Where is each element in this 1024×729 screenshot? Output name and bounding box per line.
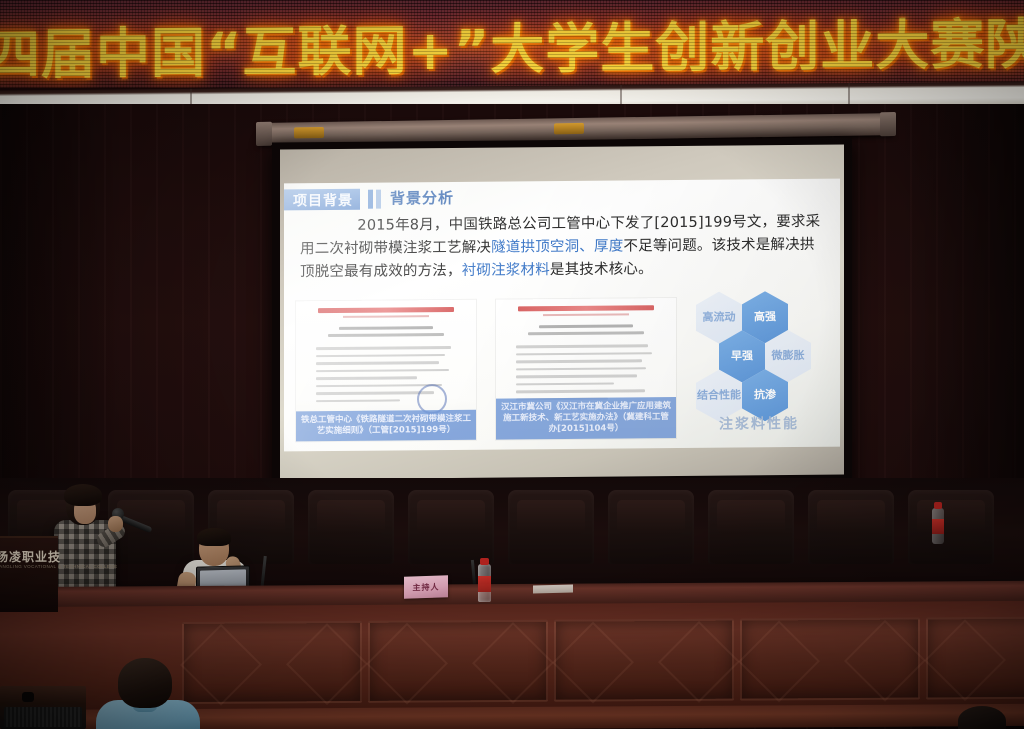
slide-highlight-2: 衬砌注浆材料 xyxy=(462,262,550,279)
chair xyxy=(908,490,994,564)
chair xyxy=(708,490,794,564)
desk-panel xyxy=(182,621,362,704)
water-bottle xyxy=(932,508,944,544)
papers-on-desk xyxy=(533,584,573,593)
desk-panel xyxy=(926,616,1024,699)
bottle-cap xyxy=(480,558,489,565)
document-red-subline xyxy=(543,313,629,316)
hexagon-diagram: 高流动 高强 早强 微膨胀 结合性能 抗渗 注浆料性能 xyxy=(684,287,834,438)
slide-subtitle: 背景分析 xyxy=(390,188,454,210)
slide-section-tag: 项目背景 xyxy=(284,189,360,211)
podium: 杨凌职业技 YANGLING VOCATIONAL & TECHNICAL CO… xyxy=(0,536,58,612)
document-red-subline xyxy=(343,315,429,318)
slide-paragraph-end: 是其技术核心。 xyxy=(550,261,653,278)
bottle-label xyxy=(478,576,491,592)
presentation-slide: 项目背景 背景分析 2015年8月，中国铁路总公司工管中心下发了[2015]19… xyxy=(284,179,840,452)
presenter-hair xyxy=(64,484,102,506)
led-banner: 四届中国“互联网+”大学生创新创业大赛陕西赛区 xyxy=(0,0,1024,88)
conference-hall-photo: 四届中国“互联网+”大学生创新创业大赛陕西赛区 项目背景 背景分析 2015年 xyxy=(0,0,1024,729)
projection-screen-surface: 项目背景 背景分析 2015年8月，中国铁路总公司工管中心下发了[2015]19… xyxy=(280,145,844,480)
projection-screen: 项目背景 背景分析 2015年8月，中国铁路总公司工管中心下发了[2015]19… xyxy=(272,137,852,494)
document-thumbnail-right: 汉江市冀公司《汉江市在冀企业推广应用建筑施工新技术、新工艺实施办法》（冀建科工管… xyxy=(496,298,676,440)
hexagon-diagram-caption: 注浆料性能 xyxy=(684,413,834,434)
chair xyxy=(508,490,594,564)
institution-sign: 杨凌职业技 xyxy=(0,548,54,565)
document-right-caption: 汉江市冀公司《汉江市在冀企业推广应用建筑施工新技术、新工艺实施办法》（冀建科工管… xyxy=(496,397,676,440)
audience-member-head xyxy=(118,658,172,708)
presenter-hand xyxy=(108,516,123,532)
water-bottle xyxy=(478,564,491,602)
bottle-label xyxy=(932,519,944,534)
document-title-line-2 xyxy=(528,331,643,335)
document-title-line xyxy=(539,324,633,328)
slide-document-thumbnails: 铁总工管中心《铁路隧道二次衬砌带模注浆工艺实施细则》（工管[2015]199号）… xyxy=(296,298,692,441)
speaker-port xyxy=(22,692,34,702)
document-title-line xyxy=(339,326,433,330)
institution-sign-subtitle: YANGLING VOCATIONAL & TECHNICAL COLLEGE xyxy=(0,564,58,569)
document-body-lines xyxy=(516,344,656,405)
chair xyxy=(408,490,494,564)
desk-panel xyxy=(554,619,734,702)
floor-speaker xyxy=(0,686,86,729)
audience-member-head xyxy=(958,706,1006,729)
chair xyxy=(808,490,894,564)
document-red-header xyxy=(518,305,655,311)
chair xyxy=(608,490,694,564)
document-title-line-2 xyxy=(328,333,443,337)
desk-panel xyxy=(740,618,920,701)
bottle-cap xyxy=(934,502,942,509)
desk-panel xyxy=(368,620,548,703)
slide-highlight-1: 隧道拱顶空洞、厚度 xyxy=(491,238,623,255)
document-red-header xyxy=(318,307,455,313)
slide-body-text: 2015年8月，中国铁路总公司工管中心下发了[2015]199号文，要求采用二次… xyxy=(300,211,824,285)
chair xyxy=(308,490,394,564)
stage-chairs-row xyxy=(0,478,1024,588)
speaker-grill xyxy=(4,707,82,727)
operator-hair xyxy=(197,528,231,546)
slide-header: 项目背景 背景分析 xyxy=(284,185,840,212)
host-name-placard: 主持人 xyxy=(404,575,448,599)
document-left-caption: 铁总工管中心《铁路隧道二次衬砌带模注浆工艺实施细则》（工管[2015]199号） xyxy=(296,410,476,442)
slide-accent-bars xyxy=(368,190,381,209)
document-thumbnail-left: 铁总工管中心《铁路隧道二次衬砌带模注浆工艺实施细则》（工管[2015]199号） xyxy=(296,300,476,442)
led-banner-text: 四届中国“互联网+”大学生创新创业大赛陕西赛区 xyxy=(0,2,1024,85)
